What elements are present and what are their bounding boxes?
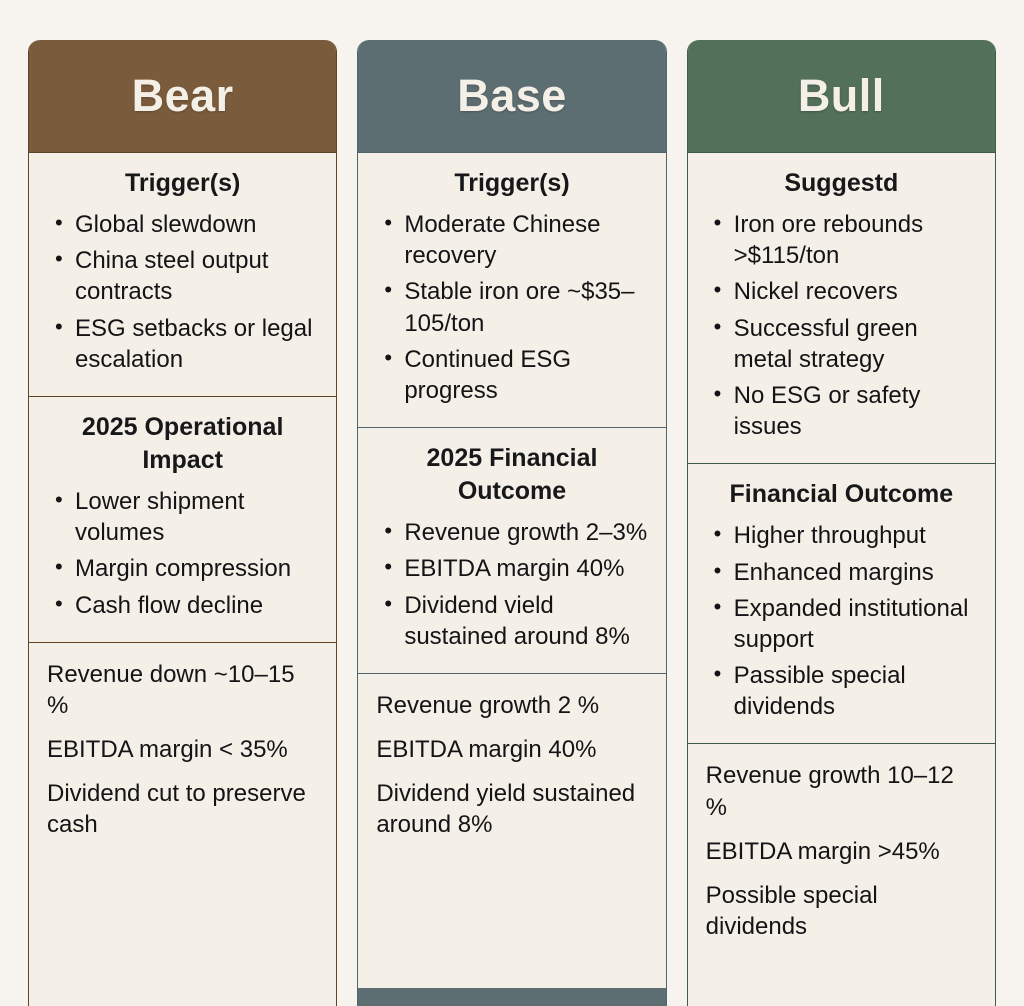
list-item: Dividend vield sustained around 8%: [380, 590, 647, 652]
section-base-summary: Revenue growth 2 % EBITDA margin 40% Div…: [358, 673, 665, 857]
list-item: Passible special dividends: [710, 660, 977, 722]
section-heading-bull-financial-outcome: Financial Outcome: [706, 478, 977, 511]
summary-line: Revenue growth 2 %: [376, 690, 647, 721]
section-base-financial-outcome: 2025 Financial Outcome Revenue growth 2–…: [358, 427, 665, 673]
list-item: No ESG or safety issues: [710, 380, 977, 442]
list-item: Nickel recovers: [710, 276, 977, 307]
list-item: Stable iron ore ~$35–105/ton: [380, 276, 647, 338]
section-bull-summary: Revenue growth 10–12 % EBITDA margin >45…: [688, 743, 995, 958]
list-item: Expanded institutional support: [710, 593, 977, 655]
card-footer-strip-base: [358, 988, 665, 1006]
section-base-triggers: Trigger(s) Moderate Chinese recovery Sta…: [358, 152, 665, 427]
list-item: EBITDA margin 40%: [380, 553, 647, 584]
scenario-comparison-board: Bear Trigger(s) Global slewdown China st…: [0, 0, 1024, 1006]
list-item: Enhanced margins: [710, 557, 977, 588]
bullet-list-base-triggers: Moderate Chinese recovery Stable iron or…: [376, 209, 647, 406]
section-heading-base-triggers: Trigger(s): [376, 167, 647, 200]
scenario-card-base: Base Trigger(s) Moderate Chinese recover…: [357, 40, 666, 1006]
bullet-list-base-financial-outcome: Revenue growth 2–3% EBITDA margin 40% Di…: [376, 517, 647, 652]
list-item: China steel output contracts: [51, 245, 318, 307]
summary-line: Revenue down ~10–15 %: [47, 659, 318, 721]
bullet-list-bull-financial-outcome: Higher throughput Enhanced margins Expan…: [706, 520, 977, 722]
card-spacer: [358, 857, 665, 988]
card-spacer: [29, 857, 336, 1006]
summary-line: Dividend cut to preserve cash: [47, 778, 318, 840]
card-title-bull: Bull: [798, 70, 885, 122]
list-item: Continued ESG progress: [380, 344, 647, 406]
section-heading-base-financial-outcome: 2025 Financial Outcome: [376, 442, 647, 508]
card-title-base: Base: [457, 70, 567, 122]
list-item: Higher throughput: [710, 520, 977, 551]
section-bull-financial-outcome: Financial Outcome Higher throughput Enha…: [688, 463, 995, 743]
summary-line: Possible special dividends: [706, 880, 977, 942]
list-item: Margin compression: [51, 553, 318, 584]
scenario-card-bear: Bear Trigger(s) Global slewdown China st…: [28, 40, 337, 1006]
scenario-card-bull: Bull Suggestd Iron ore rebounds >$115/to…: [687, 40, 996, 1006]
list-item: Iron ore rebounds >$115/ton: [710, 209, 977, 271]
card-header-bear: Bear: [29, 40, 336, 152]
section-heading-bear-triggers: Trigger(s): [47, 167, 318, 200]
summary-line: Dividend yield sustained around 8%: [376, 778, 647, 840]
list-item: Global slewdown: [51, 209, 318, 240]
summary-line: EBITDA margin < 35%: [47, 734, 318, 765]
card-title-bear: Bear: [132, 70, 234, 122]
summary-line: EBITDA margin >45%: [706, 836, 977, 867]
section-bear-operational-impact: 2025 Operational Impact Lower shipment v…: [29, 396, 336, 642]
bullet-list-bear-triggers: Global slewdown China steel output contr…: [47, 209, 318, 375]
list-item: Revenue growth 2–3%: [380, 517, 647, 548]
card-spacer: [688, 958, 995, 1006]
section-heading-bear-operational-impact: 2025 Operational Impact: [47, 411, 318, 477]
card-header-base: Base: [358, 40, 665, 152]
bullet-list-bull-suggested: Iron ore rebounds >$115/ton Nickel recov…: [706, 209, 977, 442]
list-item: Lower shipment volumes: [51, 486, 318, 548]
card-header-bull: Bull: [688, 40, 995, 152]
list-item: Cash flow decline: [51, 590, 318, 621]
summary-line: EBITDA margin 40%: [376, 734, 647, 765]
list-item: Moderate Chinese recovery: [380, 209, 647, 271]
summary-line: Revenue growth 10–12 %: [706, 760, 977, 822]
section-bear-summary: Revenue down ~10–15 % EBITDA margin < 35…: [29, 642, 336, 857]
list-item: ESG setbacks or legal escalation: [51, 313, 318, 375]
section-bull-suggested: Suggestd Iron ore rebounds >$115/ton Nic…: [688, 152, 995, 463]
bullet-list-bear-operational-impact: Lower shipment volumes Margin compressio…: [47, 486, 318, 621]
list-item: Successful green metal strategy: [710, 313, 977, 375]
section-heading-bull-suggested: Suggestd: [706, 167, 977, 200]
section-bear-triggers: Trigger(s) Global slewdown China steel o…: [29, 152, 336, 396]
